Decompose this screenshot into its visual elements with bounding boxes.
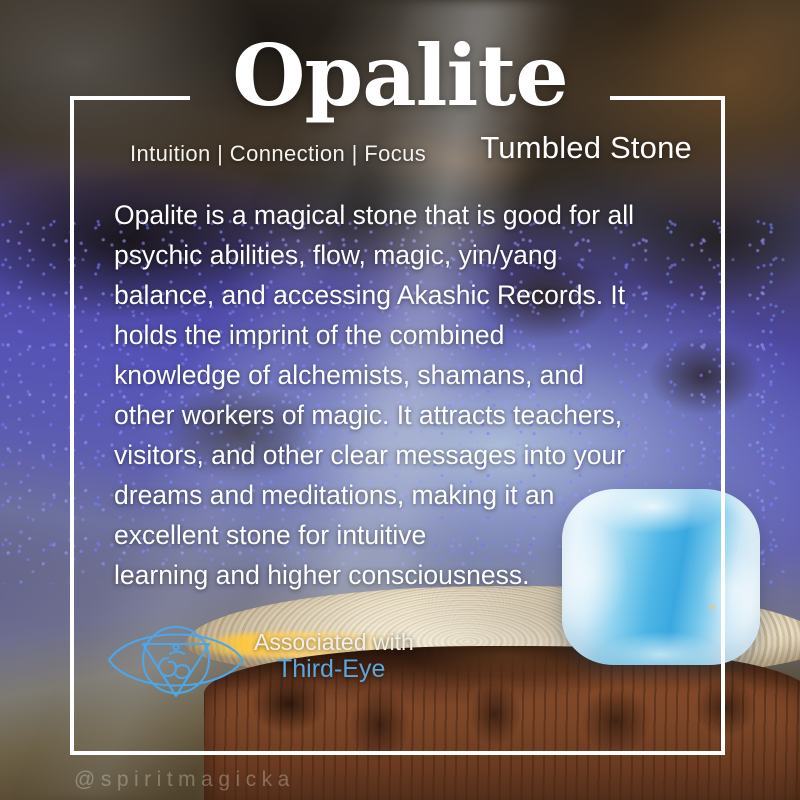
description-line: knowledge of alchemists, shamans, and: [114, 355, 686, 395]
keyword-tagline: Intuition | Connection | Focus: [130, 141, 426, 167]
crystal-info-card: Opalite Intuition | Connection | Focus T…: [0, 0, 800, 800]
description-line: holds the imprint of the combined: [114, 315, 686, 355]
brand-watermark: @spiritmagicka: [74, 768, 295, 792]
description-block: Opalite is a magical stone that is good …: [114, 195, 686, 595]
description-line: excellent stone for intuitive: [114, 515, 686, 555]
chakra-association-label: Associated with: [254, 629, 414, 656]
description-line: learning and higher consciousness.: [114, 555, 686, 595]
description-line: Opalite is a magical stone that is good …: [114, 195, 686, 235]
chakra-name: Third-Eye: [277, 655, 385, 684]
description-line: other workers of magic. It attracts teac…: [114, 395, 686, 435]
description-line: balance, and accessing Akashic Records. …: [114, 275, 686, 315]
description-line: psychic abilities, flow, magic, yin/yang: [114, 235, 686, 275]
product-subtitle: Tumbled Stone: [480, 130, 692, 166]
description-line: visitors, and other clear messages into …: [114, 435, 686, 475]
page-title: Opalite: [0, 34, 800, 118]
third-eye-chakra-icon: [106, 616, 246, 704]
description-line: dreams and meditations, making it an: [114, 475, 686, 515]
